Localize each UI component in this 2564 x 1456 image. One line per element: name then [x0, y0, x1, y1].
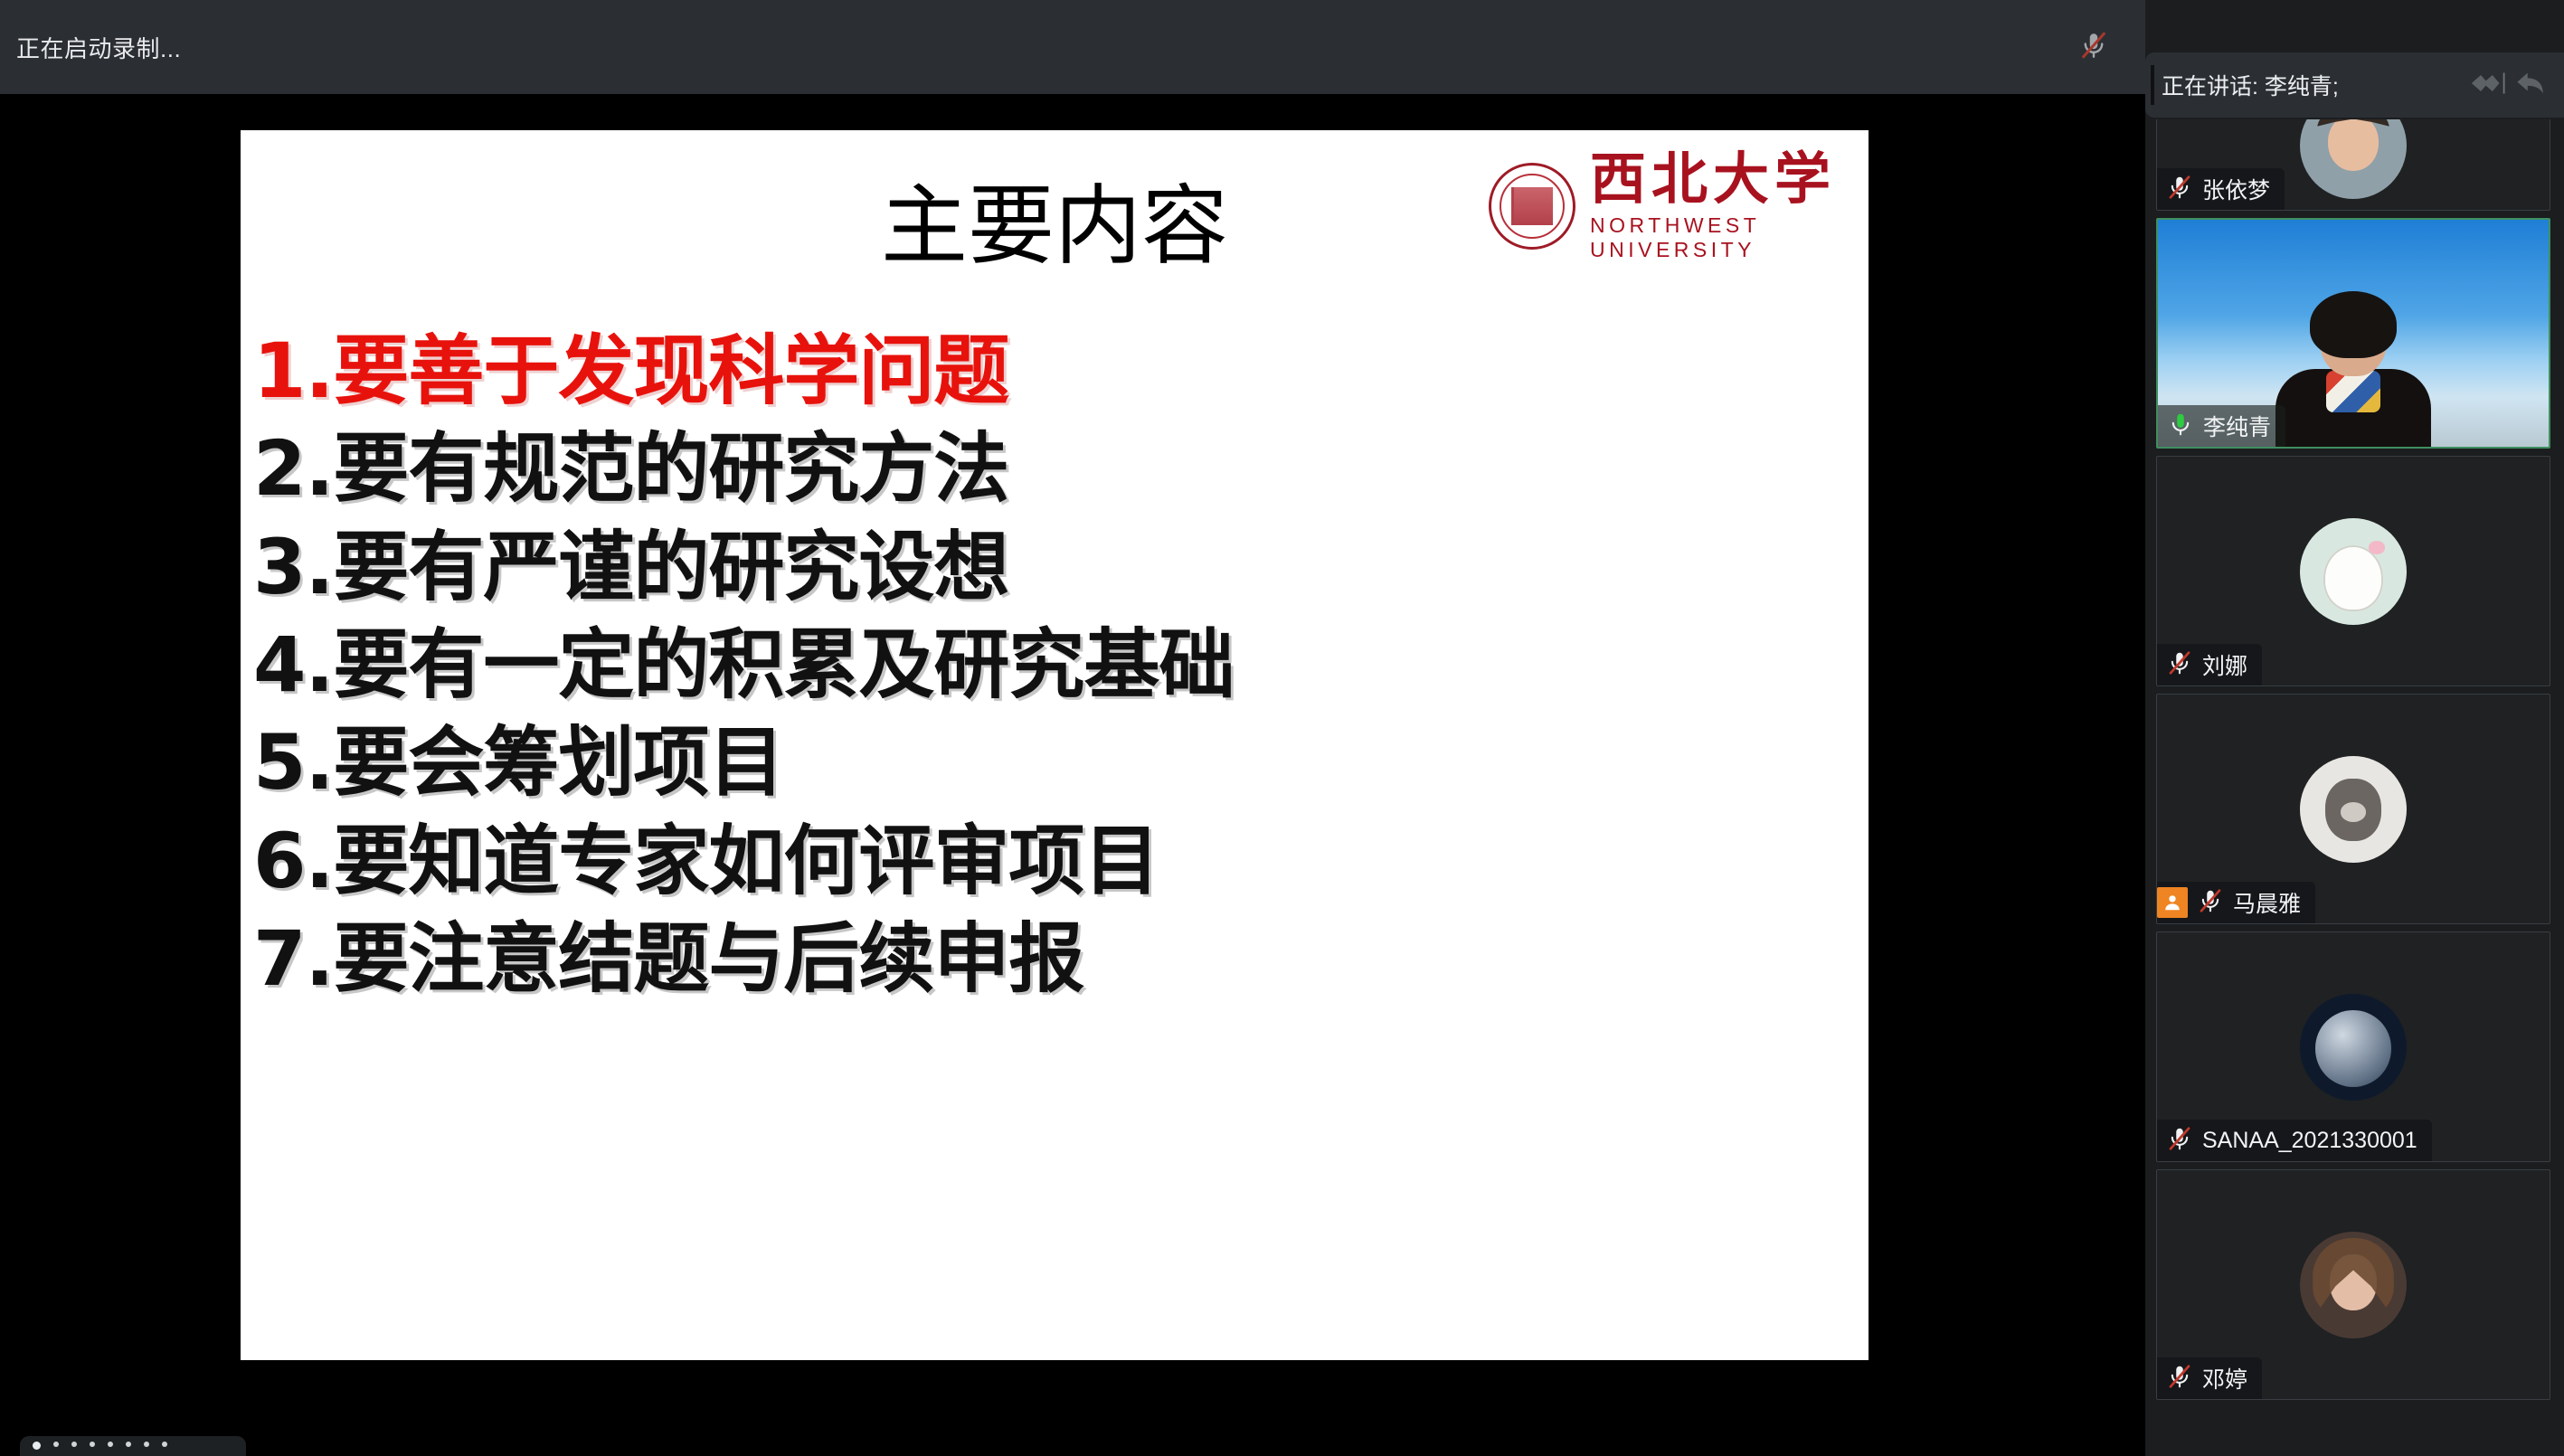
- participant-name-2: 刘娜: [2202, 648, 2247, 681]
- toolbar-control-6-icon[interactable]: [126, 1442, 131, 1447]
- slide-item-4-text: 要有一定的积累及研究基础: [333, 620, 1234, 709]
- figure-scarf: [2326, 371, 2380, 412]
- back-arrow-icon[interactable]: [2513, 68, 2550, 103]
- participant-name-4: SANAA_2021330001: [2202, 1128, 2417, 1154]
- avatar: [2300, 518, 2407, 625]
- participant-name-1: 李纯青: [2203, 410, 2271, 442]
- meeting-controls-toolbar[interactable]: [20, 1436, 246, 1456]
- toolbar-control-4-icon[interactable]: [90, 1442, 95, 1447]
- participant-label-2: 刘娜: [2157, 644, 2262, 685]
- participant-tile-2[interactable]: 刘娜: [2156, 456, 2550, 686]
- participant-name-3: 马晨雅: [2233, 886, 2301, 919]
- slide-item-3-text: 要有严谨的研究设想: [333, 523, 1008, 611]
- participant-label-3: 马晨雅: [2157, 882, 2315, 923]
- participant-label-1: 李纯青: [2158, 405, 2285, 447]
- participant-label-4: SANAA_2021330001: [2157, 1120, 2432, 1161]
- speaker-figure: [2274, 295, 2433, 447]
- moon-avatar: [2300, 994, 2407, 1101]
- slide-item-7: 7.要注意结题与后续申报: [253, 910, 1850, 1007]
- participant-label-0: 张依梦: [2157, 168, 2285, 210]
- slide-item-4: 4.要有一定的积累及研究基础: [253, 616, 1850, 714]
- girl-photo-avatar: [2300, 119, 2407, 199]
- toolbar-control-1-icon[interactable]: [33, 1442, 41, 1450]
- portrait-avatar: [2300, 1232, 2407, 1338]
- slide-item-3: 3.要有严谨的研究设想: [253, 518, 1850, 616]
- slide-item-2-number: 2.: [253, 424, 333, 513]
- active-speaker-header: 正在讲话: 李纯青;: [2145, 52, 2564, 118]
- host-person-icon: [2157, 887, 2188, 918]
- mic-muted-icon: [2166, 173, 2193, 206]
- participant-tile-5[interactable]: 邓婷: [2156, 1169, 2550, 1400]
- zoom-meeting-window: 正在启动录制... 西北大学 NORTHWEST UNIVERSITY 主要内容: [0, 0, 2564, 1456]
- mic-muted-icon: [2166, 648, 2193, 682]
- presentation-slide: 西北大学 NORTHWEST UNIVERSITY 主要内容 1.要善于发现科学…: [241, 130, 1869, 1360]
- participant-thumbnail-list[interactable]: 张依梦: [2156, 119, 2564, 1456]
- slide-item-1-number: 1.: [253, 326, 333, 415]
- slide-title: 主要内容: [241, 183, 1869, 269]
- slide-item-4-number: 4.: [253, 620, 333, 709]
- shared-screen-stage: 西北大学 NORTHWEST UNIVERSITY 主要内容 1.要善于发现科学…: [0, 94, 2145, 1456]
- avatar: [2300, 1232, 2407, 1338]
- mic-muted-icon[interactable]: [2078, 28, 2109, 67]
- share-top-bar: 正在启动录制...: [0, 0, 2145, 94]
- panel-nav-icons: [2468, 68, 2550, 103]
- toolbar-control-7-icon[interactable]: [144, 1442, 149, 1447]
- participant-tile-3[interactable]: 马晨雅: [2156, 694, 2550, 924]
- slide-item-7-text: 要注意结题与后续申报: [333, 914, 1083, 1003]
- slide-item-6-number: 6.: [253, 817, 333, 905]
- slide-item-2-text: 要有规范的研究方法: [333, 424, 1008, 513]
- mic-muted-icon: [2166, 1362, 2193, 1395]
- toolbar-control-2-icon[interactable]: [53, 1442, 59, 1447]
- recording-status-text: 正在启动录制...: [16, 31, 181, 64]
- slide-item-5-number: 5.: [253, 718, 333, 807]
- participant-tile-1[interactable]: 李纯青: [2156, 218, 2550, 449]
- speaking-label: 正在讲话: 李纯青;: [2162, 69, 2339, 101]
- avatar: [2300, 119, 2407, 199]
- participant-label-5: 邓婷: [2157, 1357, 2262, 1399]
- participant-tile-4[interactable]: SANAA_2021330001: [2156, 931, 2550, 1162]
- slide-item-3-number: 3.: [253, 523, 333, 611]
- slide-bullet-list: 1.要善于发现科学问题 2.要有规范的研究方法 3.要有严谨的研究设想 4.要有…: [253, 322, 1850, 1008]
- slide-item-5-text: 要会筹划项目: [333, 718, 783, 807]
- avatar: [2300, 994, 2407, 1101]
- participant-video-panel: 正在讲话: 李纯青;: [2145, 0, 2564, 1456]
- slide-item-1: 1.要善于发现科学问题: [253, 322, 1850, 420]
- slide-item-1-text: 要善于发现科学问题: [333, 326, 1008, 415]
- grey-cat-avatar: [2300, 756, 2407, 863]
- toolbar-control-3-icon[interactable]: [71, 1442, 77, 1447]
- mic-muted-icon: [2197, 886, 2224, 920]
- mic-muted-icon: [2166, 1124, 2193, 1158]
- slide-item-5: 5.要会筹划项目: [253, 714, 1850, 811]
- white-cat-avatar: [2300, 518, 2407, 625]
- chevron-collapse-icon[interactable]: [2468, 68, 2510, 103]
- mic-on-icon: [2167, 410, 2194, 443]
- slide-item-6: 6.要知道专家如何评审项目: [253, 812, 1850, 910]
- slide-item-2: 2.要有规范的研究方法: [253, 420, 1850, 517]
- participant-tile-0[interactable]: 张依梦: [2156, 119, 2550, 211]
- participant-name-0: 张依梦: [2202, 173, 2270, 205]
- figure-hair: [2310, 291, 2397, 358]
- participant-name-5: 邓婷: [2202, 1362, 2247, 1395]
- slide-item-6-text: 要知道专家如何评审项目: [333, 817, 1159, 905]
- slide-item-7-number: 7.: [253, 914, 333, 1003]
- avatar: [2300, 756, 2407, 863]
- toolbar-control-5-icon[interactable]: [108, 1442, 113, 1447]
- toolbar-control-8-icon[interactable]: [162, 1442, 167, 1447]
